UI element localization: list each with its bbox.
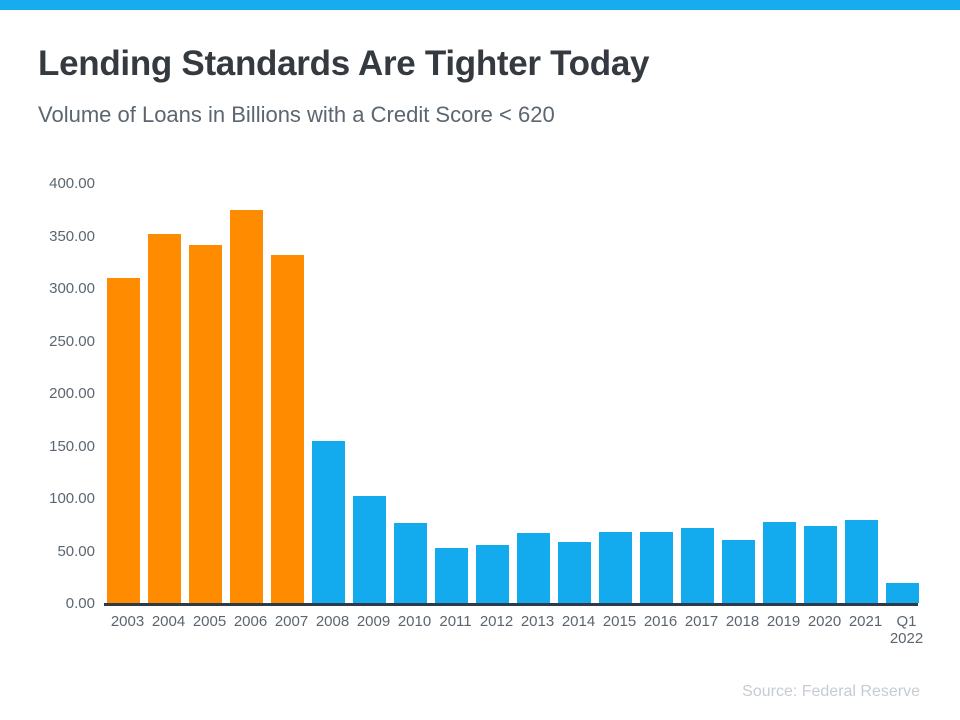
x-axis-tick-label: 2012	[476, 613, 517, 630]
bar-2009[interactable]	[353, 496, 386, 603]
bar-2017[interactable]	[681, 528, 714, 603]
x-axis-tick-label: 2013	[517, 613, 558, 630]
bar-2018[interactable]	[722, 540, 755, 603]
x-axis-tick-label: 2004	[148, 613, 189, 630]
x-axis-tick-label: Q1 2022	[886, 613, 927, 647]
bar-2005[interactable]	[189, 245, 222, 603]
y-axis: 400.00350.00300.00250.00200.00150.00100.…	[0, 0, 95, 720]
bar-2013[interactable]	[517, 533, 550, 603]
bar-2014[interactable]	[558, 542, 591, 603]
y-axis-tick-label: 300.00	[0, 281, 95, 296]
x-axis: 2003200420052006200720082009201020112012…	[107, 613, 947, 673]
y-axis-tick-label: 50.00	[0, 544, 95, 559]
x-axis-tick-label: 2011	[435, 613, 476, 630]
bar-2015[interactable]	[599, 532, 632, 603]
x-axis-tick-label: 2015	[599, 613, 640, 630]
y-axis-tick-label: 350.00	[0, 229, 95, 244]
x-axis-tick-label: 2003	[107, 613, 148, 630]
y-axis-tick-label: 400.00	[0, 176, 95, 191]
bar-2007[interactable]	[271, 255, 304, 603]
bar-2019[interactable]	[763, 522, 796, 603]
x-axis-tick-label: 2009	[353, 613, 394, 630]
bar-2004[interactable]	[148, 234, 181, 603]
x-axis-tick-label: 2010	[394, 613, 435, 630]
bar-2012[interactable]	[476, 545, 509, 603]
bar-Q1-2022[interactable]	[886, 583, 919, 603]
x-axis-tick-label: 2019	[763, 613, 804, 630]
bar-2010[interactable]	[394, 523, 427, 603]
x-axis-tick-label: 2018	[722, 613, 763, 630]
bar-2006[interactable]	[230, 210, 263, 603]
y-axis-tick-label: 250.00	[0, 334, 95, 349]
bar-2021[interactable]	[845, 520, 878, 603]
x-axis-tick-label: 2007	[271, 613, 312, 630]
source-note: Source: Federal Reserve	[742, 683, 920, 701]
y-axis-tick-label: 0.00	[0, 596, 95, 611]
x-axis-tick-label: 2014	[558, 613, 599, 630]
bar-2016[interactable]	[640, 532, 673, 603]
bar-2008[interactable]	[312, 441, 345, 603]
x-axis-tick-label: 2021	[845, 613, 886, 630]
x-axis-tick-label: 2005	[189, 613, 230, 630]
chart-page: Lending Standards Are Tighter Today Volu…	[0, 0, 960, 720]
y-axis-tick-label: 100.00	[0, 491, 95, 506]
y-axis-tick-label: 200.00	[0, 386, 95, 401]
x-axis-tick-label: 2020	[804, 613, 845, 630]
y-axis-tick-label: 150.00	[0, 439, 95, 454]
bar-2020[interactable]	[804, 526, 837, 603]
plot-area	[107, 173, 918, 603]
x-axis-line	[104, 603, 918, 606]
x-axis-tick-label: 2017	[681, 613, 722, 630]
bar-chart: 400.00350.00300.00250.00200.00150.00100.…	[0, 0, 960, 720]
bar-2011[interactable]	[435, 548, 468, 603]
x-axis-tick-label: 2006	[230, 613, 271, 630]
x-axis-tick-label: 2016	[640, 613, 681, 630]
x-axis-tick-label: 2008	[312, 613, 353, 630]
bar-2003[interactable]	[107, 278, 140, 604]
